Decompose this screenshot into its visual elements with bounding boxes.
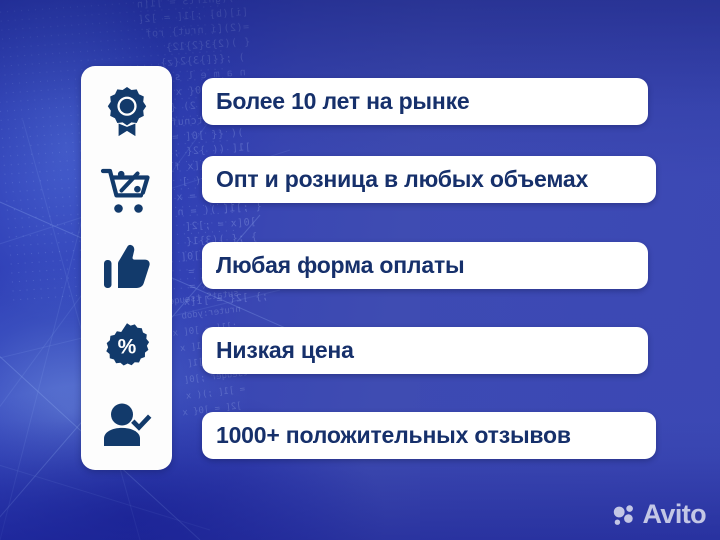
feature-bar-label: Опт и розница в любых объемах bbox=[216, 166, 588, 193]
feature-bar: Более 10 лет на рынке bbox=[202, 78, 648, 125]
promo-banner: }]{ niam ]1[n )(gnirtS = ]1[n [i](b] ;]1… bbox=[0, 0, 720, 540]
feature-bar: Опт и розница в любых объемах bbox=[202, 156, 656, 203]
avito-watermark: Avito bbox=[612, 501, 707, 528]
feature-bar-label: Более 10 лет на рынке bbox=[216, 88, 469, 115]
feature-bar-label: Низкая цена bbox=[216, 337, 354, 364]
user-check-icon bbox=[92, 392, 162, 458]
feature-bar-label: 1000+ положительных отзывов bbox=[216, 422, 571, 449]
percent-badge-icon: % bbox=[92, 313, 162, 379]
feature-bar-label: Любая форма оплаты bbox=[216, 252, 464, 279]
feature-bar: Низкая цена bbox=[202, 327, 648, 374]
svg-text:%: % bbox=[117, 336, 136, 359]
thumbs-up-icon bbox=[92, 235, 162, 301]
award-medal-icon bbox=[92, 78, 162, 144]
feature-bar-list: Более 10 лет на рынке Опт и розница в лю… bbox=[202, 78, 656, 460]
feature-bar: Любая форма оплаты bbox=[202, 242, 648, 289]
avito-dots-icon bbox=[612, 503, 636, 527]
shopping-cart-percent-icon bbox=[92, 157, 162, 223]
benefit-icon-rail: % bbox=[81, 66, 172, 470]
avito-watermark-text: Avito bbox=[643, 501, 707, 528]
feature-bar: 1000+ положительных отзывов bbox=[202, 412, 656, 459]
